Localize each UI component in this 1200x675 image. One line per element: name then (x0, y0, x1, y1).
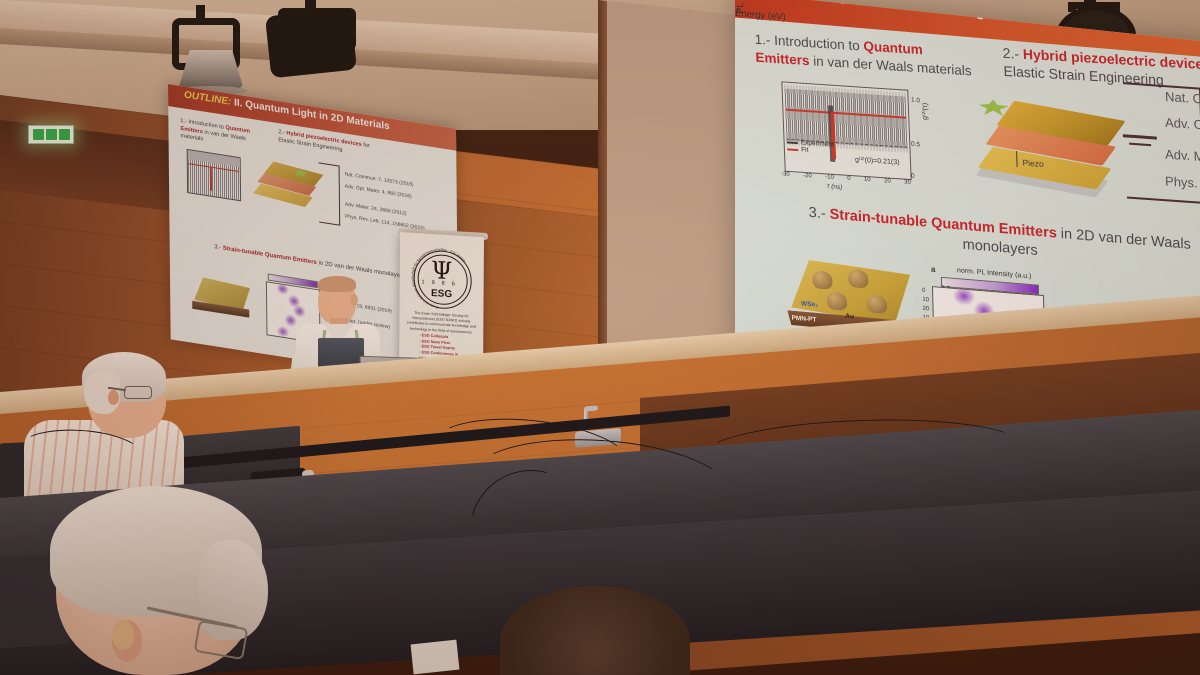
lecture-hall-photo: OUTLINE: II. Quantum Light in 2D Materia… (0, 0, 1200, 675)
g2-xtick: -10 (825, 174, 834, 181)
g2-xtick: 20 (884, 178, 891, 184)
heatmap-ytick: 20 (922, 306, 931, 313)
heatmap-panel-label: a (931, 265, 936, 274)
piezo-stack-diagram: Piezo (978, 98, 1141, 206)
heatmap-right-axis-label: PL Intensity (10³ cps) (735, 0, 745, 14)
paper-sheet-2 (411, 640, 460, 675)
small-outline-item-3: 3.- Strain-tunable Quantum Emitters in 2… (210, 242, 410, 281)
speaker-hair (318, 276, 356, 292)
piezo-label: Piezo (1022, 158, 1044, 170)
hearing-aid-icon (112, 620, 134, 650)
g2-y-axis-label: g⁽²⁾(τ) (921, 102, 929, 120)
speaker-ear (350, 294, 358, 306)
g2-xtick: 0 (847, 176, 851, 182)
audience-member-1-glasses (124, 386, 152, 399)
g2-xtick: 30 (904, 180, 911, 186)
g2-ytick-2: 0.5 (911, 140, 920, 148)
small-outline-item-1: 1.- Introduction to Quantum Emitters in … (180, 118, 268, 154)
g2-ytick-3: 0 (911, 172, 915, 179)
heatmap-ytick: 0 (922, 288, 931, 295)
audience-member-1-ear (108, 390, 119, 405)
small-g2-chart (187, 149, 241, 201)
banner-description: The Erwin Schrödinger Society for Nanosc… (405, 310, 477, 335)
heatmap-ytick: 10 (922, 297, 931, 304)
emergency-exit-icon (28, 125, 74, 144)
g2-legend-fit: Fit (801, 146, 808, 154)
device-material-label: WSe₂ (801, 300, 818, 308)
g2-ytick-1: 1.0 (911, 96, 920, 104)
small-piezo-diagram (255, 159, 325, 218)
g2-xtick: -30 (781, 171, 790, 178)
g2-x-axis-label: τ (ns) (827, 183, 842, 192)
g2-xtick: 10 (864, 177, 871, 183)
small-circuit-diagram (319, 162, 341, 225)
stage-light-icon-2 (265, 8, 357, 79)
g2-xtick: -20 (803, 173, 812, 180)
device-contact-label: Au (845, 313, 854, 321)
small-device-diagram (192, 274, 252, 327)
